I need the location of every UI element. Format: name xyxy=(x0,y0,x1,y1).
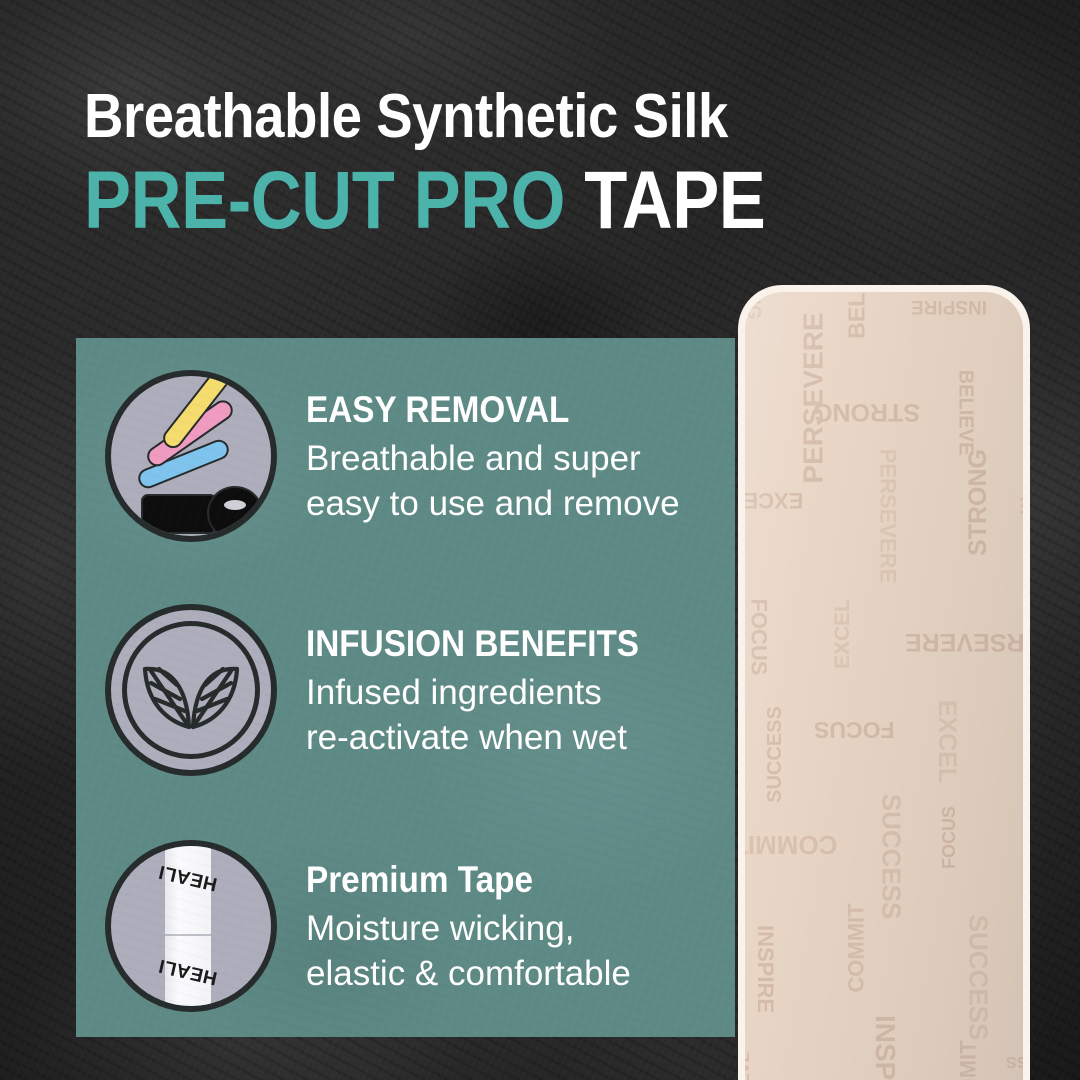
headline-accent-text: PRE-CUT PRO xyxy=(84,155,565,246)
feature-heading: Premium Tape xyxy=(306,860,598,900)
tape-pattern-word: FOCUS xyxy=(939,806,960,869)
tape-pattern-word: FOCUS xyxy=(814,716,895,743)
headline-line-2: PRE-CUT PRO TAPE xyxy=(84,158,738,244)
tape-pattern-word: BELIEVE xyxy=(745,1052,754,1080)
headline-line-1: Breathable Synthetic Silk xyxy=(84,82,753,152)
tape-surface: STRONGBELIEVEINSPIRECOMMITPERSEVERESTRON… xyxy=(745,292,1023,1080)
tape-brand-text: HEALI xyxy=(157,860,220,895)
feature-text-block: EASY REMOVAL Breathable and super easy t… xyxy=(306,366,680,526)
two-leaves-glyph xyxy=(137,647,245,733)
tape-roll-core-highlight xyxy=(224,500,246,510)
feature-card: EASY REMOVAL Breathable and super easy t… xyxy=(76,338,735,1037)
tape-pattern-word: INSPIRE xyxy=(752,925,778,1013)
tape-roll-front xyxy=(207,486,263,540)
tape-pattern-word: COMMIT xyxy=(745,829,837,860)
tape-roll-side xyxy=(141,494,217,534)
tape-pattern-word: STRONG xyxy=(745,292,764,319)
headline-tape-text: TAPE xyxy=(584,155,765,246)
feature-heading: INFUSION BENEFITS xyxy=(306,624,639,664)
tape-pattern-word: BELIEVE xyxy=(1019,492,1023,518)
feature-icon-container: HEALI HEALI xyxy=(76,836,306,1012)
feature-icon-container xyxy=(76,366,306,542)
tape-pattern-word: SUCCESS xyxy=(962,915,993,1041)
tape-pattern-word: STRONG xyxy=(964,449,993,556)
tape-pattern-word: COMMIT xyxy=(844,903,870,992)
feature-body: Breathable and super easy to use and rem… xyxy=(306,436,680,526)
tape-pattern-word: SUCCESS xyxy=(764,706,787,803)
tape-pattern-word: FOCUS xyxy=(746,599,772,676)
feature-row: EASY REMOVAL Breathable and super easy t… xyxy=(76,366,735,542)
tape-pattern-word: BELIEVE xyxy=(843,292,870,339)
tape-pattern-word: PERSEVERE xyxy=(905,627,1023,656)
tape-pattern-word: INSPIRE xyxy=(869,1015,901,1080)
page-title: Breathable Synthetic Silk PRE-CUT PRO TA… xyxy=(84,82,844,244)
tape-pattern-word: SUCCESS xyxy=(1006,1052,1023,1070)
tape-pattern-word: INSPIRE xyxy=(911,295,987,317)
product-tape-image: STRONGBELIEVEINSPIRECOMMITPERSEVERESTRON… xyxy=(738,285,1030,1080)
tape-pattern-word: STRONG xyxy=(813,397,920,426)
feature-row: HEALI HEALI Premium Tape Moisture wickin… xyxy=(76,836,735,1012)
tape-pattern-word: BELIEVE xyxy=(953,370,976,456)
tape-pattern-word: EXCEL xyxy=(745,487,803,513)
feature-body: Infused ingredients re-activate when wet xyxy=(306,670,676,760)
feature-text-block: Premium Tape Moisture wicking, elastic &… xyxy=(306,836,631,996)
feature-text-block: INFUSION BENEFITS Infused ingredients re… xyxy=(306,600,676,760)
tape-pattern-word: EXCEL xyxy=(933,700,962,783)
tape-pattern-word: PERSEVERE xyxy=(875,448,901,583)
tape-pattern-word: EXCEL xyxy=(831,599,855,669)
feature-body: Moisture wicking, elastic & comfortable xyxy=(306,906,631,996)
tape-pattern-word: COMMIT xyxy=(956,1040,982,1080)
headline-spacer xyxy=(565,155,584,246)
feature-icon-container xyxy=(76,600,306,776)
feature-heading: EASY REMOVAL xyxy=(306,390,642,430)
leaves-in-circle-icon xyxy=(105,604,277,776)
product-infographic: Breathable Synthetic Silk PRE-CUT PRO TA… xyxy=(0,0,1080,1080)
feature-row: INFUSION BENEFITS Infused ingredients re… xyxy=(76,600,735,776)
white-tape-strip: HEALI HEALI xyxy=(165,840,211,1012)
tape-strips-and-rolls-icon xyxy=(105,370,277,542)
tape-pattern-word: SUCCESS xyxy=(876,794,907,920)
tape-brand-text: HEALI xyxy=(157,954,220,989)
heali-tape-strip-icon: HEALI HEALI xyxy=(105,840,277,1012)
tape-word-pattern: STRONGBELIEVEINSPIRECOMMITPERSEVERESTRON… xyxy=(745,292,1023,1080)
